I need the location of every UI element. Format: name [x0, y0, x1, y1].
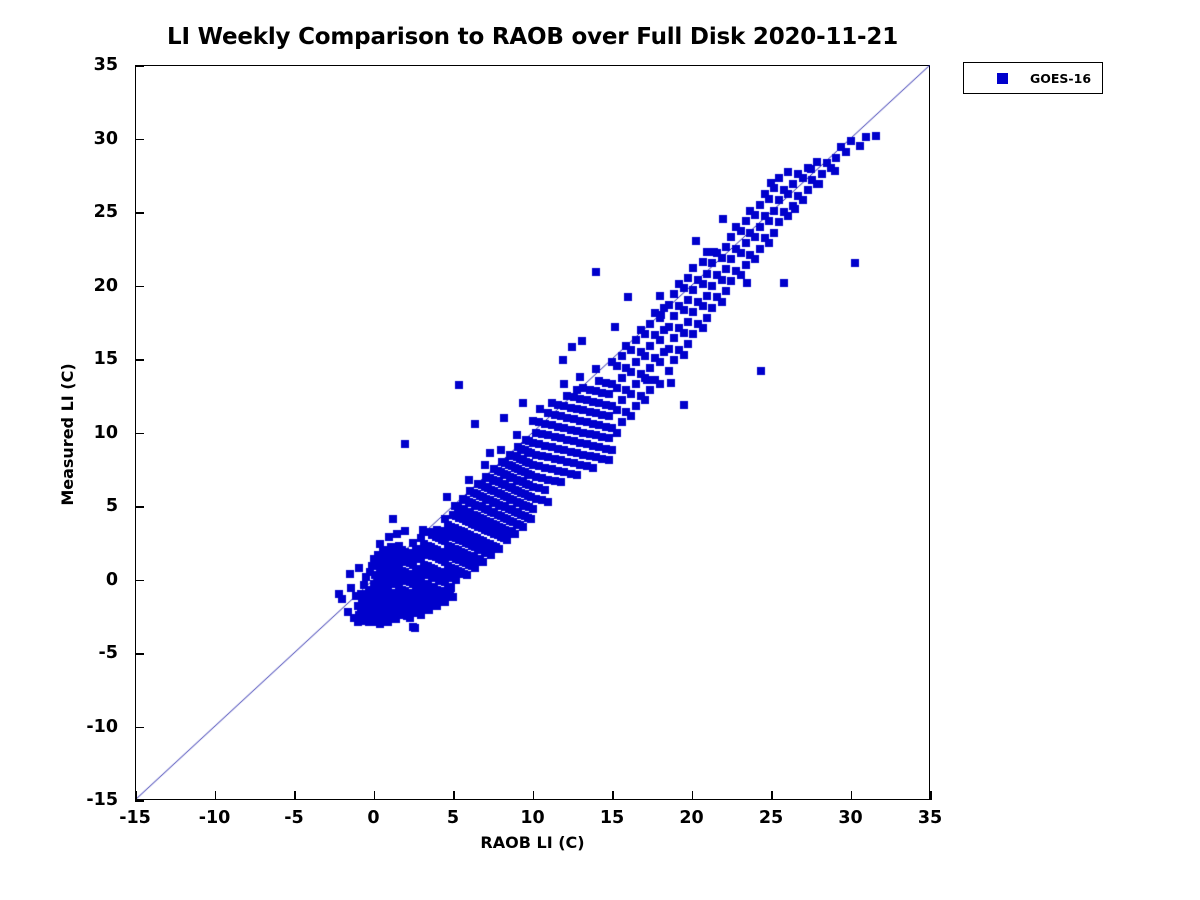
y-tick-label: -5: [99, 643, 118, 663]
x-tick-label: 30: [838, 808, 862, 828]
y-tick-label: -15: [86, 790, 118, 810]
x-tick-label: -5: [284, 808, 303, 828]
y-tick-mark: [135, 433, 144, 435]
scatter-plot-canvas: [135, 65, 930, 800]
x-axis-title: RAOB LI (C): [135, 833, 930, 852]
y-tick-mark: [135, 580, 144, 582]
x-tick-mark: [453, 791, 455, 800]
x-tick-label: 25: [759, 808, 783, 828]
chart-title: LI Weekly Comparison to RAOB over Full D…: [0, 24, 1065, 50]
x-tick-mark: [533, 791, 535, 800]
y-tick-label: 15: [94, 349, 118, 369]
x-tick-mark: [612, 791, 614, 800]
x-tick-mark: [135, 791, 137, 800]
legend-swatch-goes16: [997, 73, 1008, 84]
x-tick-mark: [374, 791, 376, 800]
x-tick-mark: [294, 791, 296, 800]
y-tick-label: 20: [94, 276, 118, 296]
x-tick-label: 5: [447, 808, 459, 828]
y-tick-label: 35: [94, 55, 118, 75]
legend: GOES-16: [963, 62, 1103, 94]
x-tick-mark: [851, 791, 853, 800]
x-tick-mark: [771, 791, 773, 800]
x-tick-mark: [692, 791, 694, 800]
y-tick-label: 0: [106, 570, 118, 590]
x-tick-label: -15: [119, 808, 151, 828]
x-tick-label: 35: [918, 808, 942, 828]
x-tick-label: 0: [367, 808, 379, 828]
y-tick-mark: [135, 286, 144, 288]
y-tick-mark: [135, 506, 144, 508]
y-axis-title: Measured LI (C): [58, 67, 77, 802]
y-tick-mark: [135, 212, 144, 214]
x-tick-mark: [215, 791, 217, 800]
y-tick-mark: [135, 653, 144, 655]
x-tick-label: 20: [679, 808, 703, 828]
chart-figure: LI Weekly Comparison to RAOB over Full D…: [0, 0, 1200, 900]
y-tick-mark: [135, 727, 144, 729]
y-tick-label: -10: [86, 717, 118, 737]
y-tick-label: 5: [106, 496, 118, 516]
y-tick-label: 30: [94, 129, 118, 149]
y-tick-mark: [135, 359, 144, 361]
x-tick-label: -10: [199, 808, 231, 828]
y-tick-mark: [135, 139, 144, 141]
legend-label-goes16: GOES-16: [1030, 71, 1091, 86]
y-tick-mark: [135, 65, 144, 67]
y-tick-label: 10: [94, 423, 118, 443]
y-tick-label: 25: [94, 202, 118, 222]
y-tick-mark: [135, 800, 144, 802]
x-tick-label: 15: [600, 808, 624, 828]
x-tick-mark: [930, 791, 932, 800]
x-tick-label: 10: [520, 808, 544, 828]
